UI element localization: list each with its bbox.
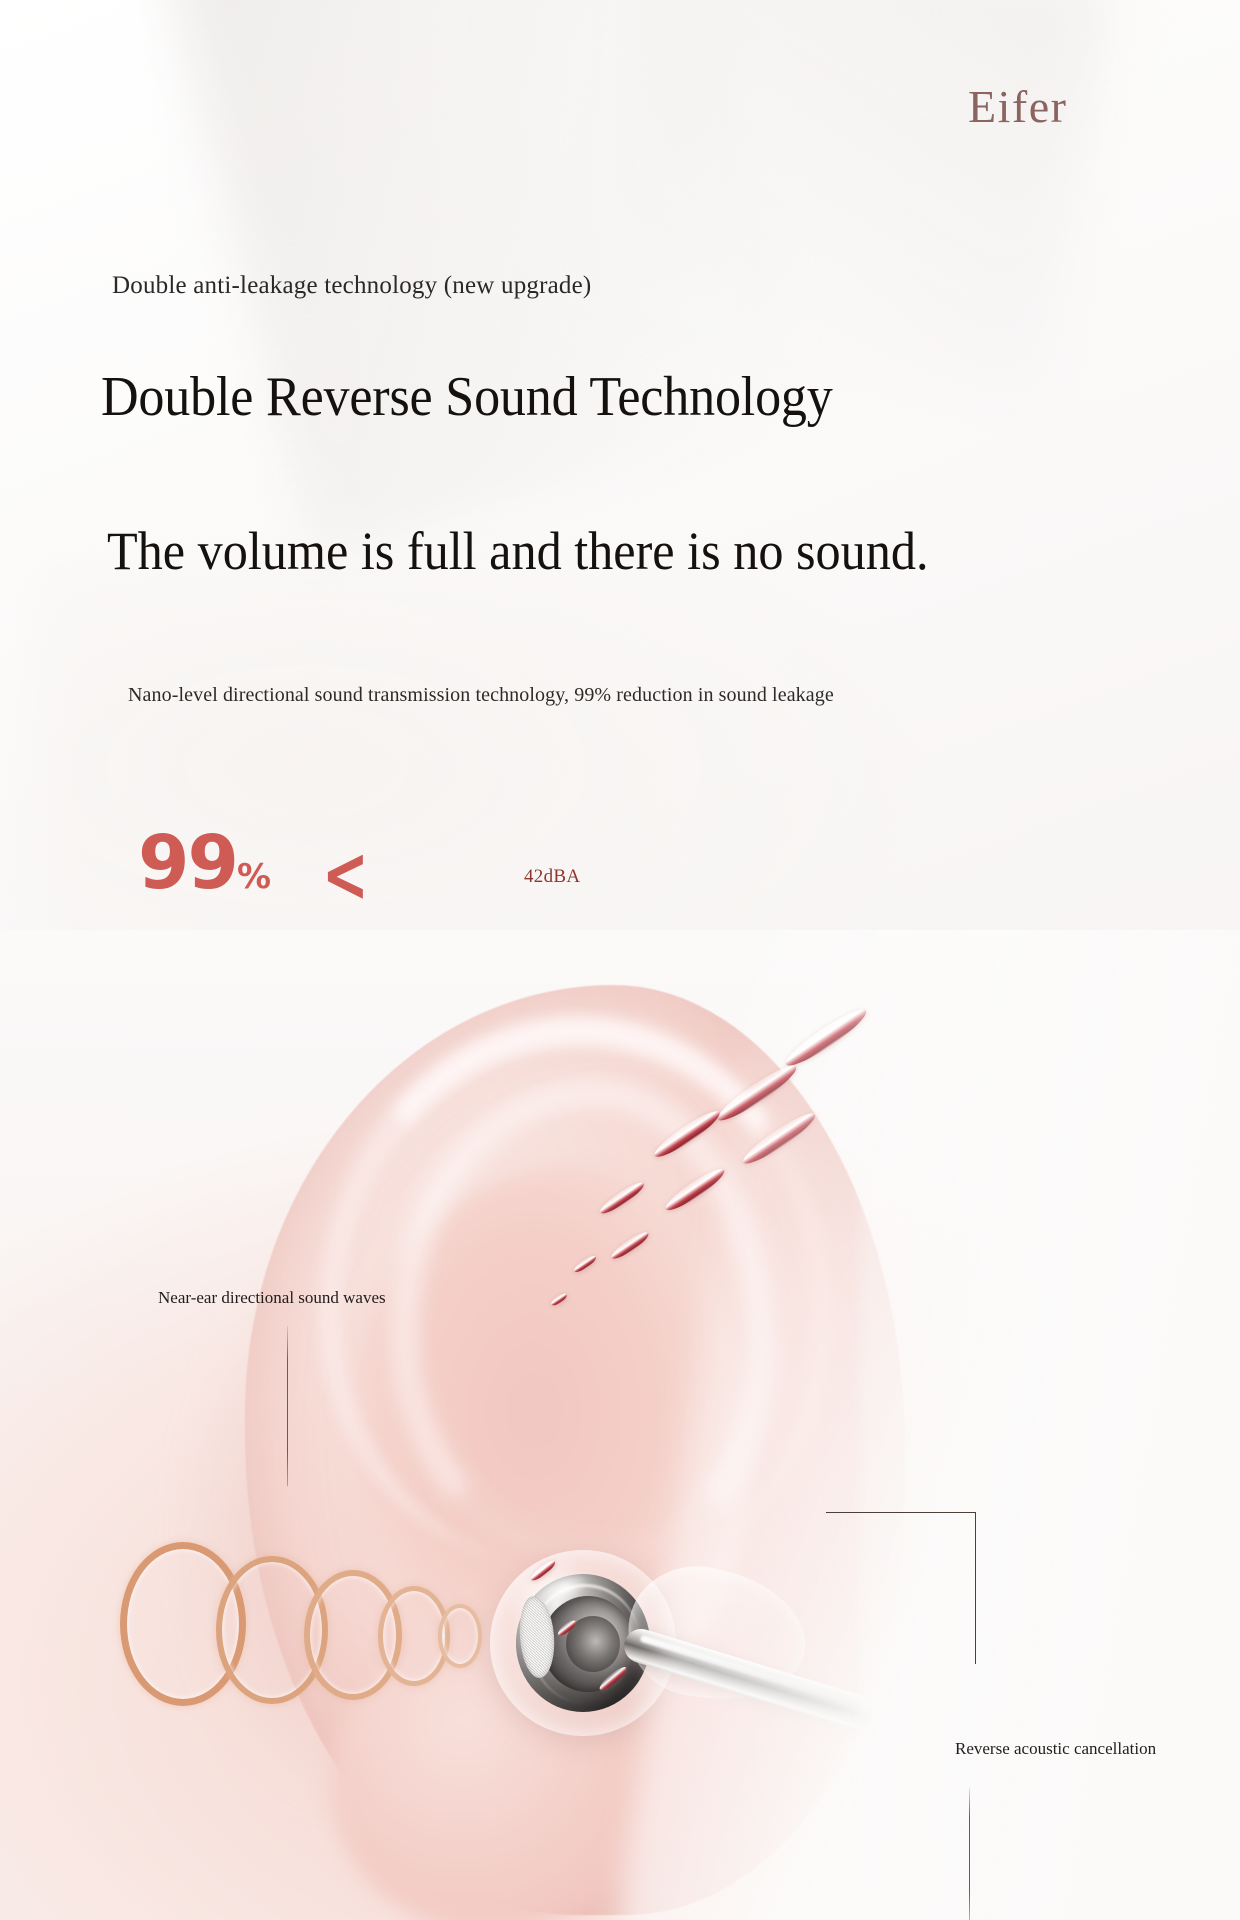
leak-ellipse-7 — [609, 1229, 652, 1263]
brand-logo: Eifer — [968, 80, 1067, 133]
leak-ellipse-4 — [650, 1106, 724, 1163]
leak-ellipse-8 — [572, 1253, 598, 1274]
head-edge-fade — [860, 930, 1240, 1920]
leak-ellipse-11 — [556, 1618, 578, 1638]
leak-ellipse-10 — [528, 1558, 557, 1584]
annotation-leader-line-bottom — [969, 1788, 970, 1920]
annotation-near-ear: Near-ear directional sound waves — [158, 1288, 386, 1308]
ear-illustration-scene — [0, 930, 1240, 1920]
reduction-value: 99 — [138, 820, 237, 906]
leak-ellipse-6 — [597, 1178, 647, 1217]
annotation-leader-line-left — [287, 1326, 288, 1486]
description-text: Nano-level directional sound transmissio… — [128, 684, 834, 707]
leader-horizontal — [826, 1512, 976, 1513]
leader-vertical — [975, 1512, 976, 1664]
leak-ellipse-12 — [597, 1664, 629, 1693]
leakage-value: 42dBA — [524, 866, 580, 888]
eyebrow-text: Double anti-leakage technology (new upgr… — [112, 272, 591, 300]
headline-secondary: The volume is full and there is no sound… — [107, 520, 929, 582]
leak-ellipse-9 — [550, 1292, 569, 1308]
less-than-icon: < — [322, 836, 369, 914]
annotation-reverse-cancellation: Reverse acoustic cancellation — [955, 1739, 1156, 1759]
reduction-unit: % — [237, 857, 271, 897]
reduction-stat: 99% — [138, 826, 271, 900]
headline-primary: Double Reverse Sound Technology — [101, 365, 833, 429]
background-wash-b — [589, 0, 1111, 403]
annotation-leader-line-right — [826, 1512, 976, 1664]
